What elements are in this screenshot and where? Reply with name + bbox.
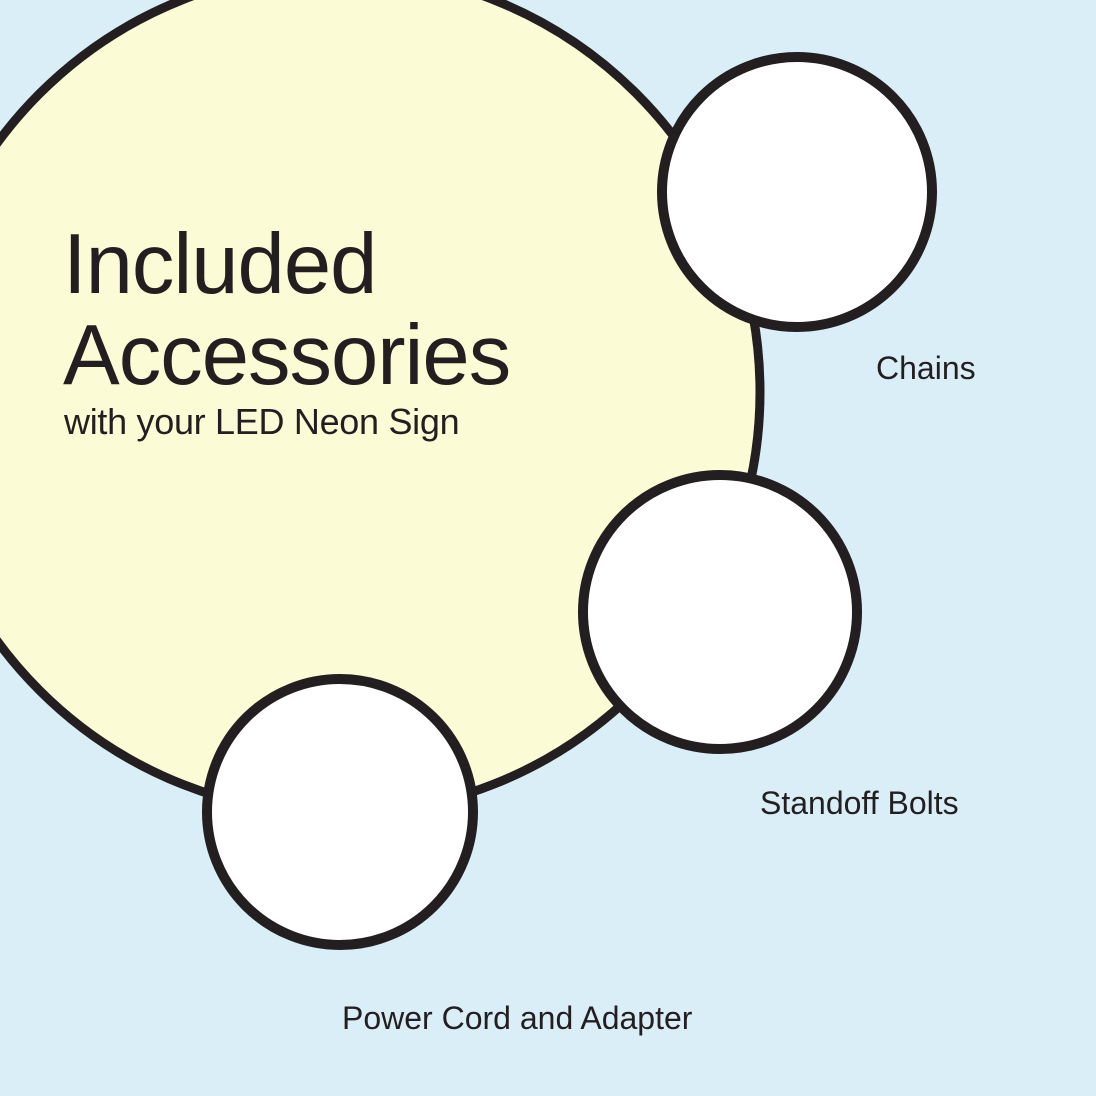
page-title-line-2: Accessories (63, 313, 510, 398)
page-subtitle: with your LED Neon Sign (64, 404, 459, 440)
caption-power-cord: Power Cord and Adapter (342, 1002, 692, 1034)
page-title-line-1: Included (63, 222, 376, 307)
power-cord-circle-frame (207, 679, 473, 945)
included-accessories-poster: Included Accessories with your LED Neon … (0, 0, 1096, 1096)
power-cord-photo-bubble (0, 0, 1096, 1096)
caption-standoff-bolts: Standoff Bolts (760, 787, 959, 819)
caption-chains: Chains (876, 352, 976, 384)
